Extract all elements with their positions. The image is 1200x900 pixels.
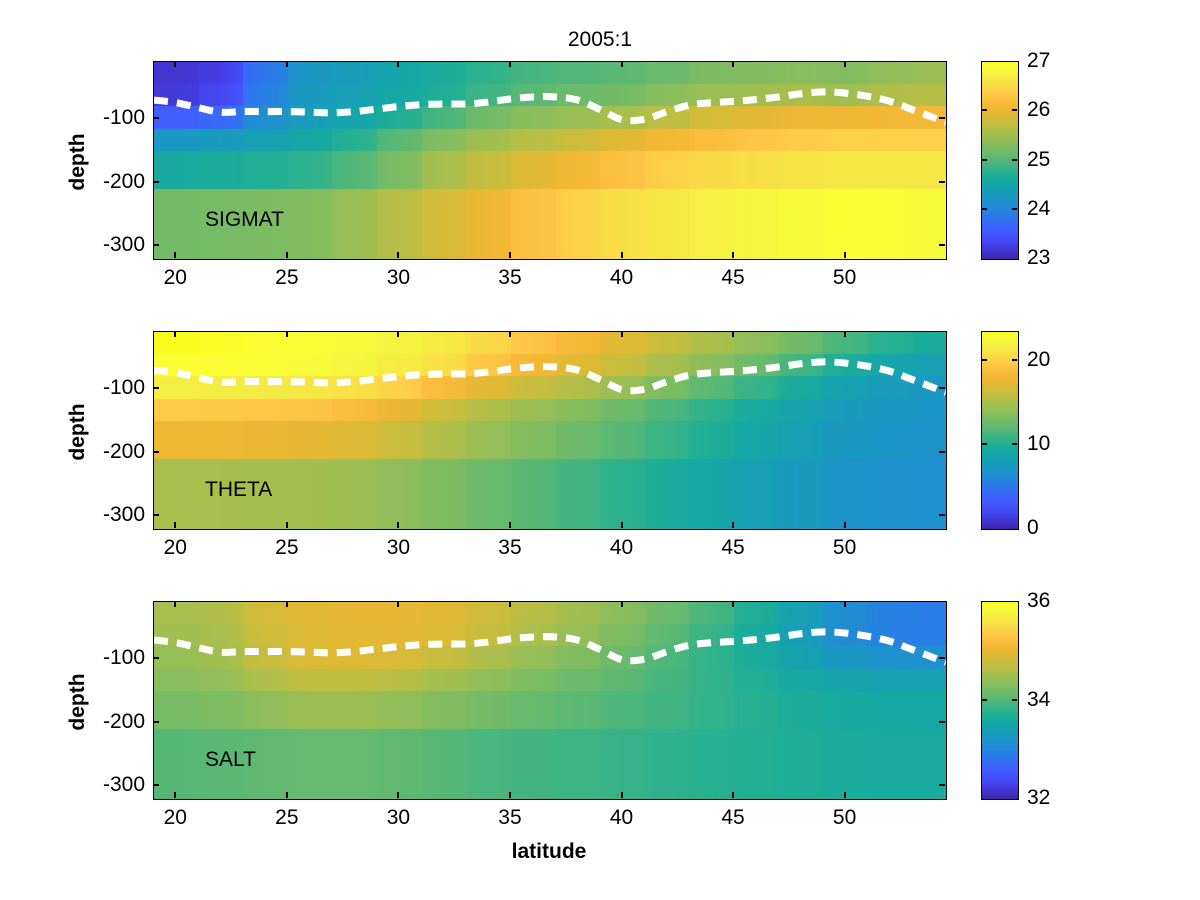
x-tick-label: 45 [721, 536, 744, 560]
x-tick-label: 25 [275, 806, 298, 830]
figure-canvas: 2005:1 SIGMAT depth -100-200-300 2025303… [0, 0, 1200, 900]
y-tick-mark [939, 244, 945, 246]
x-tick-label: 45 [721, 806, 744, 830]
x-tick-label: 20 [164, 536, 187, 560]
x-tick-mark [732, 252, 734, 258]
colorbar-tick-mark [1012, 443, 1017, 445]
x-tick-label: 40 [610, 806, 633, 830]
x-tick-mark [174, 331, 176, 337]
y-tick-mark [939, 181, 945, 183]
x-tick-mark [844, 252, 846, 258]
colorbar-tick-label: 0 [1027, 516, 1039, 540]
x-tick-mark [509, 601, 511, 607]
x-tick-label: 50 [833, 266, 856, 290]
y-tick-mark [939, 117, 945, 119]
x-tick-label: 20 [164, 806, 187, 830]
y-tick-mark [153, 657, 159, 659]
x-tick-mark [621, 792, 623, 798]
panel-label-theta: THETA [205, 478, 272, 502]
x-tick-mark [397, 522, 399, 528]
x-tick-label: 30 [387, 536, 410, 560]
x-tick-mark [286, 601, 288, 607]
x-tick-mark [732, 522, 734, 528]
panel-label-salt: SALT [205, 748, 256, 772]
x-tick-mark [174, 522, 176, 528]
colorbar-tick-label: 20 [1027, 348, 1050, 372]
x-tick-mark [509, 792, 511, 798]
colorbar-tick-mark [982, 208, 987, 210]
colorbar-tick-label: 26 [1027, 98, 1050, 122]
x-tick-mark [844, 601, 846, 607]
colorbar-tick-mark [1012, 159, 1017, 161]
y-tick-mark [939, 514, 945, 516]
colorbar-tick-label: 36 [1027, 589, 1050, 613]
colorbar-gradient-salt [982, 602, 1018, 799]
x-tick-label: 25 [275, 536, 298, 560]
panel-label-sigmat: SIGMAT [205, 208, 284, 232]
x-tick-mark [174, 792, 176, 798]
x-tick-mark [286, 331, 288, 337]
x-tick-label: 35 [498, 806, 521, 830]
colorbar-tick-mark [982, 359, 987, 361]
y-tick-label: -200 [61, 710, 145, 734]
y-tick-mark [939, 387, 945, 389]
x-tick-mark [397, 61, 399, 67]
x-tick-mark [732, 61, 734, 67]
colorbar-salt [981, 601, 1019, 800]
x-tick-mark [174, 61, 176, 67]
x-tick-label: 35 [498, 536, 521, 560]
x-tick-mark [732, 601, 734, 607]
colorbar-tick-mark [1012, 208, 1017, 210]
y-tick-mark [153, 514, 159, 516]
colorbar-tick-label: 32 [1027, 786, 1050, 810]
y-tick-label: -300 [61, 503, 145, 527]
x-tick-label: 20 [164, 266, 187, 290]
y-tick-label: -300 [61, 773, 145, 797]
mixed-layer-depth-line-salt [154, 602, 946, 799]
x-tick-mark [621, 61, 623, 67]
x-tick-mark [286, 522, 288, 528]
x-tick-mark [509, 252, 511, 258]
x-tick-mark [174, 601, 176, 607]
x-tick-mark [509, 61, 511, 67]
x-tick-mark [174, 252, 176, 258]
x-tick-label: 25 [275, 266, 298, 290]
x-tick-mark [621, 331, 623, 337]
x-tick-mark [286, 792, 288, 798]
y-tick-mark [153, 181, 159, 183]
colorbar-tick-label: 23 [1027, 246, 1050, 270]
y-tick-mark [153, 244, 159, 246]
y-tick-mark [153, 784, 159, 786]
colorbar-tick-label: 25 [1027, 148, 1050, 172]
x-tick-mark [397, 601, 399, 607]
y-tick-label: -100 [61, 106, 145, 130]
x-tick-label: 30 [387, 806, 410, 830]
y-tick-label: -200 [61, 440, 145, 464]
colorbar-tick-mark [1012, 359, 1017, 361]
y-tick-mark [153, 451, 159, 453]
y-tick-label: -200 [61, 170, 145, 194]
colorbar-tick-mark [1012, 699, 1017, 701]
x-tick-label: 40 [610, 536, 633, 560]
colorbar-tick-label: 27 [1027, 49, 1050, 73]
colorbar-tick-label: 34 [1027, 688, 1050, 712]
x-tick-mark [844, 792, 846, 798]
y-tick-label: -300 [61, 233, 145, 257]
y-tick-label: -100 [61, 376, 145, 400]
x-tick-mark [286, 61, 288, 67]
x-tick-mark [621, 252, 623, 258]
x-axis-label-latitude: latitude [153, 840, 945, 864]
colorbar-gradient-sigmat [982, 62, 1018, 259]
y-tick-mark [939, 721, 945, 723]
x-tick-label: 50 [833, 806, 856, 830]
x-tick-mark [509, 331, 511, 337]
colorbar-tick-mark [982, 699, 987, 701]
colorbar-tick-mark [982, 443, 987, 445]
x-tick-mark [621, 522, 623, 528]
colorbar-gradient-theta [982, 332, 1018, 529]
colorbar-tick-mark [1012, 109, 1017, 111]
colorbar-sigmat [981, 61, 1019, 260]
x-tick-mark [509, 522, 511, 528]
x-tick-mark [732, 792, 734, 798]
x-tick-label: 35 [498, 266, 521, 290]
colorbar-tick-label: 24 [1027, 197, 1050, 221]
x-tick-mark [844, 522, 846, 528]
x-tick-label: 45 [721, 266, 744, 290]
x-tick-mark [844, 61, 846, 67]
figure-title: 2005:1 [0, 28, 1200, 52]
y-tick-mark [153, 387, 159, 389]
x-tick-mark [397, 792, 399, 798]
x-tick-mark [397, 252, 399, 258]
x-tick-mark [286, 252, 288, 258]
x-tick-label: 50 [833, 536, 856, 560]
mixed-layer-depth-line-theta [154, 332, 946, 529]
x-tick-label: 30 [387, 266, 410, 290]
y-tick-label: -100 [61, 646, 145, 670]
y-tick-mark [939, 657, 945, 659]
colorbar-tick-mark [982, 109, 987, 111]
colorbar-tick-mark [982, 159, 987, 161]
x-tick-mark [732, 331, 734, 337]
colorbar-tick-label: 10 [1027, 432, 1050, 456]
x-tick-mark [621, 601, 623, 607]
y-tick-mark [153, 721, 159, 723]
x-tick-mark [844, 331, 846, 337]
y-tick-mark [939, 784, 945, 786]
y-tick-mark [153, 117, 159, 119]
x-tick-mark [397, 331, 399, 337]
x-tick-label: 40 [610, 266, 633, 290]
y-tick-mark [939, 451, 945, 453]
axes-salt[interactable] [153, 601, 947, 800]
